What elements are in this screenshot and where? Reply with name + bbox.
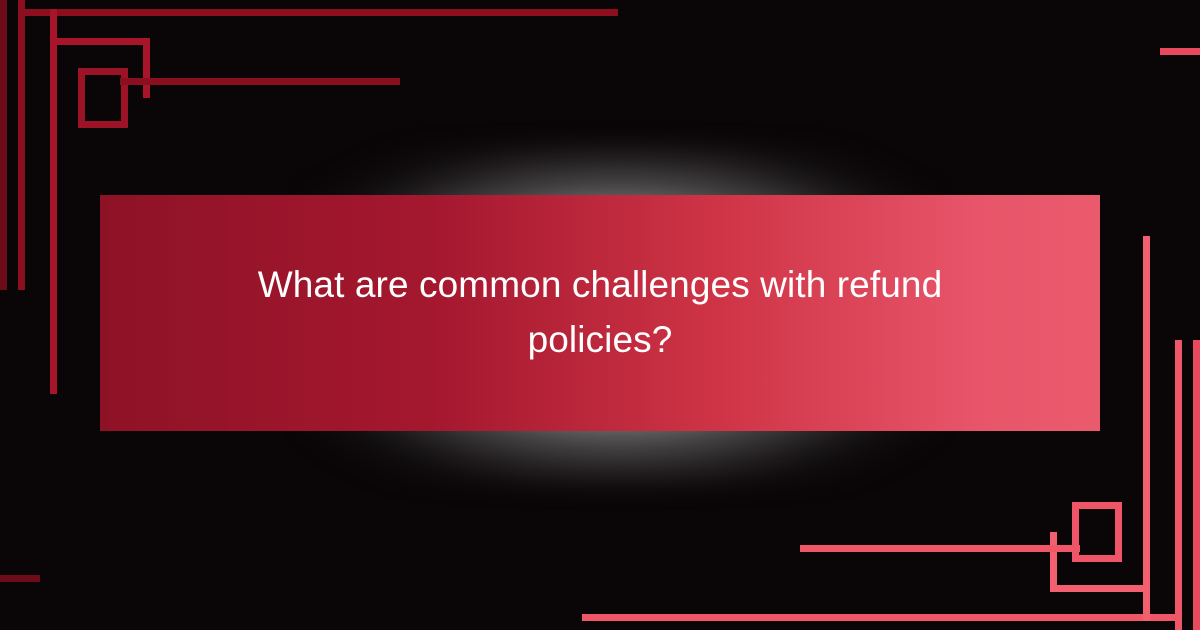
deco-line-mid-vertical [50,9,57,394]
deco-line-upper-stub-mirrored [1160,48,1200,55]
deco-line-inner-horizontal [120,78,400,85]
deco-line-mid-vertical-short [143,38,150,98]
page-title: What are common challenges with refund p… [240,258,960,368]
deco-line-mid-vertical-mirrored [1143,236,1150,621]
deco-line-outer-vertical [18,0,25,290]
deco-line-outer-horizontal-mirrored [582,614,1182,621]
deco-line-mid-horizontal-mirrored [1050,585,1150,592]
deco-line-right-edge-vertical [1193,340,1200,630]
page-canvas: What are common challenges with refund p… [0,0,1200,630]
deco-line-lower-stub [0,575,40,582]
deco-square-inner [78,68,128,128]
title-banner: What are common challenges with refund p… [100,195,1100,431]
deco-line-inner-horizontal-mirrored [800,545,1080,552]
deco-line-outer-horizontal [18,9,618,16]
deco-line-mid-vertical-short-mirrored [1050,532,1057,592]
deco-line-left-edge-vertical [0,0,7,290]
deco-line-outer-vertical-mirrored [1175,340,1182,630]
deco-square-inner-mirrored [1072,502,1122,562]
deco-line-mid-horizontal [50,38,150,45]
